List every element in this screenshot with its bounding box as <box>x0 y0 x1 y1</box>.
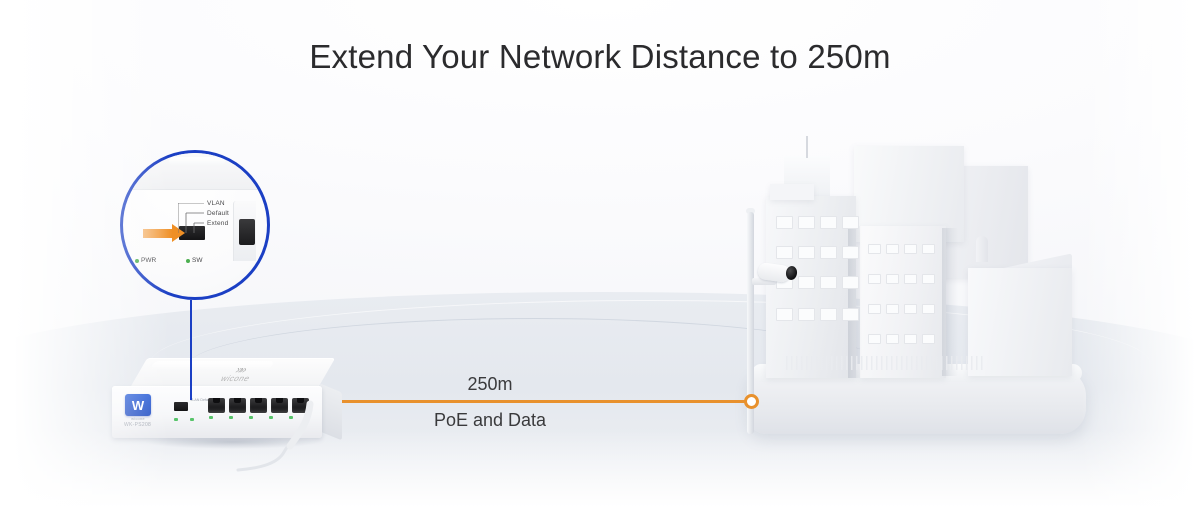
sw-led-label: SW <box>192 257 202 264</box>
window <box>886 244 899 254</box>
window <box>842 216 859 229</box>
window <box>776 308 793 321</box>
window <box>868 304 881 314</box>
building-left-penthouse <box>770 184 814 200</box>
window <box>820 246 837 259</box>
dip-switch[interactable] <box>174 402 188 411</box>
window <box>904 304 917 314</box>
link-distance-label: 250m <box>400 374 580 395</box>
window <box>886 304 899 314</box>
right-fade-overlay <box>1080 0 1200 520</box>
rooftop-antenna <box>806 136 808 158</box>
window <box>820 308 837 321</box>
window <box>904 244 917 254</box>
sw-led-icon <box>190 418 194 421</box>
window-row <box>868 334 935 344</box>
window <box>798 246 815 259</box>
callout-tick-lines <box>178 203 218 233</box>
window <box>922 274 935 284</box>
magnified-sw-led: SW <box>186 257 202 264</box>
ethernet-cable <box>232 394 362 474</box>
roof-duct <box>976 236 988 262</box>
window <box>798 276 815 289</box>
window <box>842 246 859 259</box>
status-led-group <box>174 418 194 421</box>
page-title: Extend Your Network Distance to 250m <box>0 38 1200 76</box>
brand-wordmark: wicone <box>219 374 252 383</box>
infographic-stage: Extend Your Network Distance to 250m <box>0 0 1200 520</box>
label-extend: Extend <box>207 220 228 227</box>
brand-chevrons-icon: »» <box>234 366 247 374</box>
left-fade-overlay <box>0 0 170 520</box>
window <box>798 308 815 321</box>
perimeter-fence <box>786 356 986 370</box>
window <box>798 216 815 229</box>
window-row <box>776 216 859 229</box>
window <box>904 334 917 344</box>
camera-pole-node <box>744 394 759 409</box>
switch-top-brand: »» wicone <box>192 364 284 384</box>
power-led-icon <box>174 418 178 421</box>
city-buildings-render <box>736 118 1096 448</box>
label-vlan: VLAN <box>207 200 225 207</box>
window <box>820 216 837 229</box>
window <box>776 216 793 229</box>
window <box>776 246 793 259</box>
window <box>820 276 837 289</box>
window-row <box>776 308 859 321</box>
window <box>868 334 881 344</box>
magnified-top-gloss <box>169 157 225 165</box>
window <box>886 274 899 284</box>
label-default: Default <box>207 210 229 217</box>
window <box>842 276 859 289</box>
window-row <box>776 246 859 259</box>
port-led-icon <box>209 416 213 419</box>
window <box>922 304 935 314</box>
window <box>922 334 935 344</box>
sw-led-icon <box>186 259 190 263</box>
magnified-ethernet-port <box>239 219 255 245</box>
link-service-label: PoE and Data <box>390 410 590 431</box>
window-row <box>868 274 935 284</box>
window <box>868 244 881 254</box>
ethernet-port[interactable] <box>208 398 225 413</box>
window <box>842 308 859 321</box>
window <box>922 244 935 254</box>
building-shadow-middle <box>942 228 958 376</box>
callout-leader-line <box>190 300 192 400</box>
window-row <box>868 244 935 254</box>
window <box>886 334 899 344</box>
window-row <box>868 304 935 314</box>
window <box>904 274 917 284</box>
window <box>868 274 881 284</box>
